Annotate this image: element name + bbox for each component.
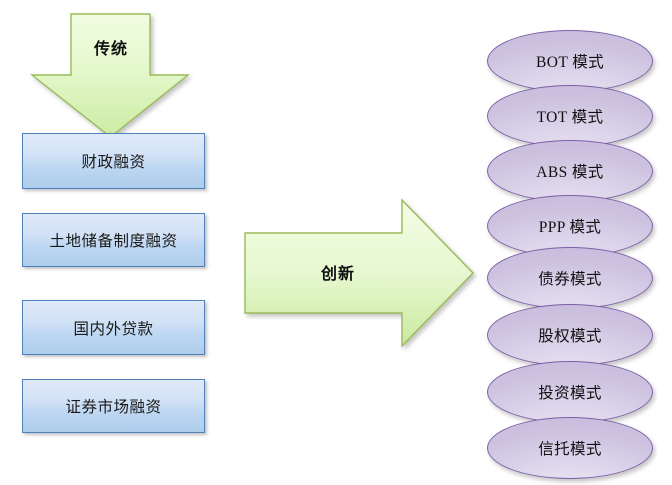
financing-mode-label-2: TOT 模式 [488,86,652,146]
financing-mode-ellipse-7[interactable]: 投资模式 [487,361,653,423]
legacy-financing-box-1[interactable]: 财政融资 [22,133,205,189]
traditional-arrow-label: 传统 [71,35,151,59]
legacy-financing-box-2[interactable]: 土地储备制度融资 [22,213,205,267]
legacy-financing-label-3: 国内外贷款 [23,301,204,354]
financing-mode-label-8: 信托模式 [488,418,652,478]
legacy-financing-box-3[interactable]: 国内外贷款 [22,300,205,355]
financing-mode-label-1: BOT 模式 [488,31,652,91]
legacy-financing-label-2: 土地储备制度融资 [23,214,204,266]
financing-mode-ellipse-8[interactable]: 信托模式 [487,417,653,479]
traditional-down-arrow [32,14,188,137]
financing-mode-label-3: ABS 模式 [488,141,652,201]
financing-mode-ellipse-5[interactable]: 债券模式 [487,247,653,309]
financing-mode-label-7: 投资模式 [488,362,652,422]
financing-mode-ellipse-3[interactable]: ABS 模式 [487,140,653,202]
financing-mode-ellipse-2[interactable]: TOT 模式 [487,85,653,147]
innovation-arrow-label: 创新 [288,260,388,284]
financing-mode-ellipse-6[interactable]: 股权模式 [487,304,653,366]
legacy-financing-label-1: 财政融资 [23,134,204,188]
financing-mode-label-5: 债券模式 [488,248,652,308]
financing-mode-label-6: 股权模式 [488,305,652,365]
financing-mode-ellipse-1[interactable]: BOT 模式 [487,30,653,92]
legacy-financing-label-4: 证券市场融资 [23,380,204,432]
legacy-financing-box-4[interactable]: 证券市场融资 [22,379,205,433]
